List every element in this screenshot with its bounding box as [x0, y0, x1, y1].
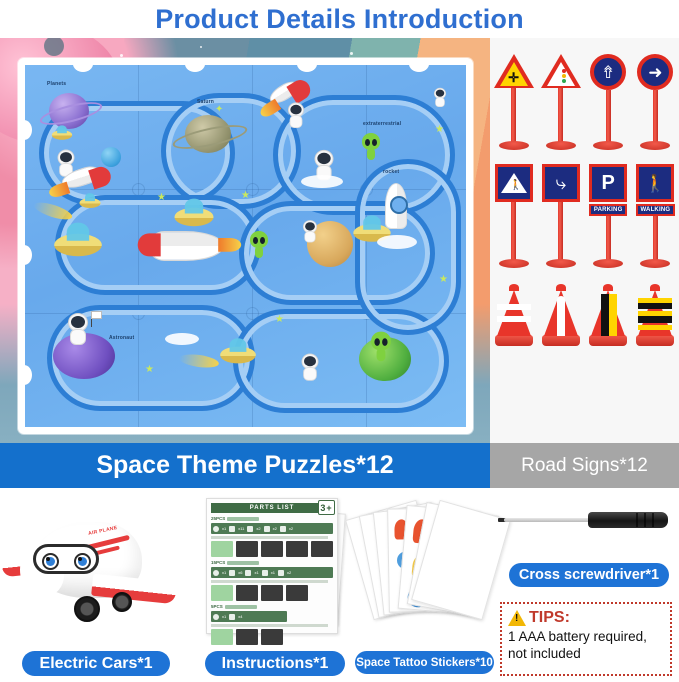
alien-icon — [361, 133, 381, 161]
sign-pole — [511, 202, 516, 260]
pedestrian-crossing-icon: 🚶 — [495, 164, 533, 202]
sign-base — [640, 141, 670, 150]
rocket-icon — [61, 169, 101, 186]
astronaut-icon — [427, 81, 453, 115]
cone-red-yellow-black[interactable] — [588, 284, 628, 346]
screwdriver-handle — [588, 512, 668, 528]
multi-direction-arrow-icon: ⇮ — [590, 54, 626, 90]
instructions-cell: PARTS LIST 3+ 25PCS x1 x11 x2 x2 x2 — [192, 490, 352, 682]
sign-base — [593, 141, 623, 150]
ufo-icon — [177, 209, 211, 225]
section-chip — [227, 517, 259, 521]
parts-section-title: 15PCS — [211, 560, 333, 565]
section-note — [211, 536, 328, 539]
crossroad-warning-icon: ✛ — [494, 54, 534, 88]
caption-row: Space Theme Puzzles*12 Road Signs*12 — [0, 443, 679, 488]
sign-traffic-light[interactable] — [540, 54, 582, 150]
astronaut-icon — [297, 351, 323, 385]
tips-box: ! TIPS: 1 AAA battery required, not incl… — [500, 602, 672, 676]
planet-blue-icon — [101, 147, 121, 167]
parts-section: 25PCS x1 x11 x2 x2 x2 — [211, 516, 333, 557]
plane-wing-front — [91, 574, 177, 605]
sign-right-turn-lane[interactable]: ⤷ — [540, 164, 582, 268]
star-icon: ★ — [439, 275, 448, 285]
plane-wheel — [112, 592, 132, 612]
walking-icon: 🚶 — [636, 164, 674, 202]
flag-icon — [91, 311, 102, 319]
sign-base — [546, 141, 576, 150]
puzzle-caption: Space Theme Puzzles*12 — [0, 443, 490, 488]
sign-base — [499, 141, 529, 150]
ufo-icon — [45, 127, 79, 143]
plane-goggles — [33, 544, 99, 574]
cone-base — [589, 335, 627, 346]
cross-screwdriver-icon — [498, 496, 674, 546]
cone-body — [638, 290, 672, 336]
ufo-icon — [73, 195, 107, 211]
sticker-sheets-icon[interactable] — [358, 500, 498, 632]
alien-icon — [371, 333, 391, 361]
parts-list-header: PARTS LIST 3+ — [211, 503, 333, 513]
parts-section: 5PCS x1 x4 — [211, 604, 333, 645]
cloud-icon — [301, 175, 343, 188]
cone-base — [495, 335, 533, 346]
parts-bar: x1 x6 x1 x1 x2 — [211, 567, 333, 578]
parking-plate-label: PARKING — [589, 204, 628, 216]
parts-list-title: PARTS LIST — [250, 505, 295, 511]
cone-body — [544, 290, 578, 336]
section-chip — [225, 605, 257, 609]
road-signs-row-1: ✛ — [490, 54, 679, 150]
walking-plate-label: WALKING — [636, 204, 676, 216]
parts-thumbnails — [211, 629, 333, 645]
tips-body: 1 AAA battery required, not included — [508, 629, 664, 663]
toy-plane-icon: AIR PLANE — [8, 500, 184, 630]
plane-wheel — [74, 596, 100, 622]
plane-eye-left — [42, 553, 59, 570]
cone-red-white-vertical[interactable] — [541, 284, 581, 346]
cloud-icon — [377, 235, 417, 249]
sign-pole — [558, 202, 563, 260]
astronaut-icon — [65, 313, 91, 347]
sign-walking[interactable]: 🚶 WALKING — [634, 164, 676, 268]
stickers-caption: Space Tattoo Stickers*10 — [355, 651, 494, 674]
puzzle-label-extraterrestrial: extraterrestrial — [363, 121, 401, 127]
sign-turn-right[interactable]: ➜ — [634, 54, 676, 150]
cloud-icon — [165, 333, 199, 345]
parts-section-title: 5PCS — [211, 604, 333, 609]
puzzle-label-planets: Planets — [47, 81, 66, 87]
screwdriver-shaft — [504, 518, 592, 522]
star-icon: ★ — [157, 193, 166, 203]
cone-yellow-black-striped[interactable] — [635, 284, 675, 346]
sign-pole — [511, 88, 516, 142]
road-signs-caption: Road Signs*12 — [490, 443, 679, 488]
sign-base — [546, 259, 576, 268]
puzzle-label-saturn: Saturn — [197, 99, 214, 105]
parts-bar: x1 x11 x2 x2 x2 — [211, 523, 333, 534]
puzzle-mat[interactable]: Planets Saturn — [18, 58, 473, 434]
background-planet-teal-icon — [44, 36, 64, 56]
sign-pedestrian-crossing[interactable]: 🚶 — [493, 164, 535, 268]
astronaut-icon — [283, 99, 309, 133]
road-signs-grid: ✛ — [490, 42, 679, 346]
instructions-caption: Instructions*1 — [205, 651, 345, 676]
star-icon: ★ — [145, 365, 154, 375]
section-note — [211, 624, 328, 627]
parts-count-label: 25PCS — [211, 516, 225, 521]
sign-pole — [558, 88, 563, 142]
warning-triangle-icon: ! — [508, 610, 526, 626]
electric-cars-caption: Electric Cars*1 — [22, 651, 170, 676]
sign-multi-direction[interactable]: ⇮ — [587, 54, 629, 150]
right-turn-arrow-icon: ⤷ — [542, 164, 580, 202]
parts-count-label: 5PCS — [211, 604, 223, 609]
cone-red-white-striped[interactable] — [494, 284, 534, 346]
ufo-alien-icon — [61, 237, 95, 253]
sign-base — [640, 259, 670, 268]
page-title: Product Details Introduction — [155, 4, 524, 35]
puzzle-label-rocket: rocket — [383, 169, 399, 175]
sign-base — [593, 259, 623, 268]
parts-section: 15PCS x1 x6 x1 x1 x2 — [211, 560, 333, 601]
background-star-icon — [120, 54, 123, 57]
background-star-icon — [200, 46, 202, 48]
stickers-cell: Space Tattoo Stickers*10 — [352, 490, 502, 682]
star-icon: ★ — [241, 191, 250, 201]
sign-pole — [653, 216, 658, 260]
sign-pole — [606, 216, 611, 260]
planet-purple-icon — [49, 93, 89, 129]
puzzle-label-astronaut: Astronaut — [109, 335, 134, 341]
road-signs-row-2: 🚶 ⤷ P — [490, 164, 679, 268]
astronaut-icon — [297, 215, 323, 249]
traffic-cones-row — [490, 284, 679, 346]
section-chip — [227, 561, 259, 565]
sign-parking[interactable]: P PARKING — [587, 164, 629, 268]
sign-crossroad-warning[interactable]: ✛ — [493, 54, 535, 150]
parts-bar: x1 x4 — [211, 611, 287, 622]
instruction-sheet[interactable]: PARTS LIST 3+ 25PCS x1 x11 x2 x2 x2 — [206, 498, 338, 634]
cone-base — [542, 335, 580, 346]
planet-saturn-icon — [185, 115, 231, 153]
ufo-icon — [221, 347, 255, 363]
age-badge: 3+ — [318, 500, 335, 515]
parts-section-title: 25PCS — [211, 516, 333, 521]
top-section: Planets Saturn — [0, 34, 679, 484]
parking-icon: P — [589, 164, 627, 202]
rocket-vertical-icon — [385, 183, 407, 229]
rocket-small-icon — [268, 85, 300, 100]
electric-car-cell: AIR PLANE Electric Cars*1 — [0, 490, 192, 682]
star-icon: ✦ — [215, 105, 223, 115]
background-star-icon — [350, 52, 353, 55]
road-signs-panel: ✛ — [490, 34, 679, 484]
product-detail-page: Product Details Introduction — [0, 0, 679, 682]
star-icon: ★ — [435, 125, 444, 135]
rocket-icon — [153, 233, 219, 259]
parts-thumbnails — [211, 585, 333, 601]
plane-eye-right — [74, 553, 91, 570]
page-title-bar: Product Details Introduction — [0, 0, 679, 38]
right-arrow-icon: ➜ — [637, 54, 673, 90]
traffic-light-icon — [541, 54, 581, 88]
star-icon: ★ — [275, 315, 284, 325]
cone-body — [591, 290, 625, 336]
sign-pole — [606, 90, 611, 142]
tips-title: TIPS: — [529, 609, 570, 627]
section-note — [211, 580, 328, 583]
cone-body — [497, 290, 531, 336]
alien-icon — [249, 231, 269, 259]
screwdriver-caption: Cross screwdriver*1 — [509, 563, 669, 587]
parts-thumbnails — [211, 541, 333, 557]
sign-pole — [653, 90, 658, 142]
cone-base — [636, 335, 674, 346]
sign-base — [499, 259, 529, 268]
puzzle-panel: Planets Saturn — [0, 34, 490, 484]
tips-header: ! TIPS: — [508, 609, 664, 627]
parts-count-label: 15PCS — [211, 560, 225, 565]
